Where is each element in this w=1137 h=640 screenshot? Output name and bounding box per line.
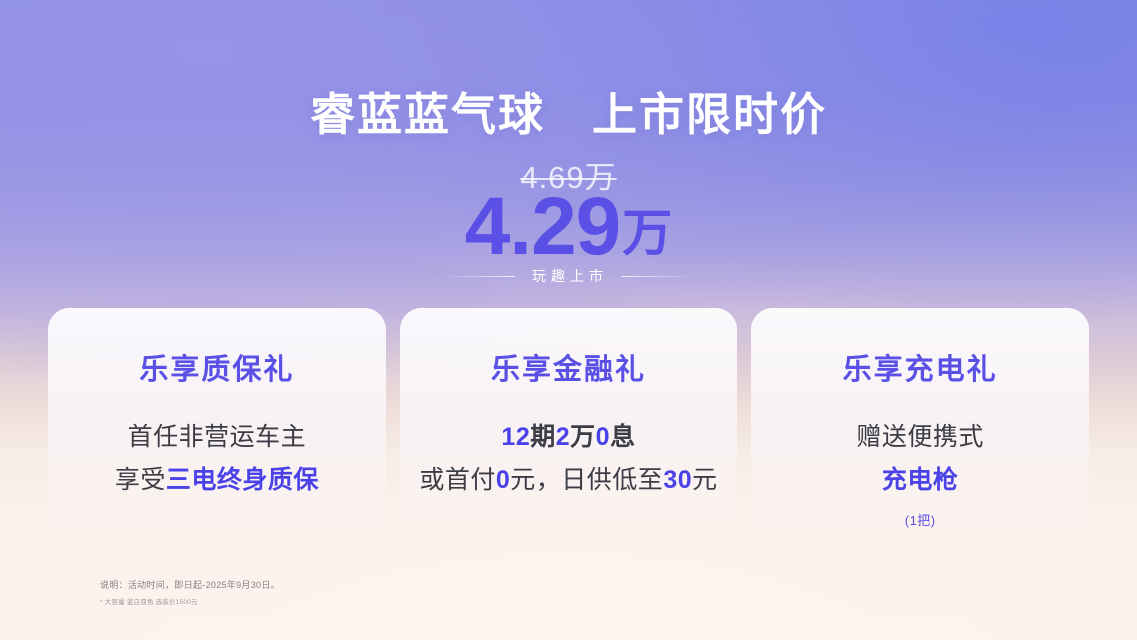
card-line: 12期2万0息 bbox=[400, 416, 738, 459]
card-segment-highlight: 0 bbox=[496, 466, 510, 494]
card-line: 充电枪 bbox=[751, 459, 1089, 502]
card-segment: 万 bbox=[570, 423, 596, 451]
card-segment-highlight: 三电终身质保 bbox=[166, 466, 319, 494]
benefit-card-finance: 乐享金融礼 12期2万0息 或首付0元，日供低至30元 bbox=[400, 308, 738, 608]
footnote-main: 说明：活动时间，即日起-2025年9月30日。 bbox=[100, 578, 280, 592]
card-segment: 息 bbox=[610, 423, 636, 451]
card-segment-highlight: 0 bbox=[596, 423, 610, 451]
card-segment: 首任非营运车主 bbox=[128, 423, 307, 451]
card-title: 乐享金融礼 bbox=[400, 346, 738, 388]
card-note: (1把) bbox=[751, 510, 1089, 529]
card-segment-highlight: 12 bbox=[501, 423, 530, 451]
slogan-row: 玩趣上市 bbox=[0, 266, 1137, 286]
current-price: 4.29万 bbox=[0, 186, 1137, 268]
benefit-card-charging: 乐享充电礼 赠送便携式 充电枪 (1把) bbox=[751, 308, 1089, 608]
current-price-number: 4.29 bbox=[465, 181, 621, 272]
card-title: 乐享充电礼 bbox=[751, 346, 1089, 388]
page-title: 睿蓝蓝气球 上市限时价 bbox=[0, 78, 1137, 143]
footnote-sub: * 大容量 蓝白双色 选装价1500元 bbox=[100, 598, 280, 608]
promo-poster: 睿蓝蓝气球 上市限时价 4.69万 4.29万 玩趣上市 乐享质保礼 首任非营运… bbox=[0, 0, 1137, 640]
card-segment: 期 bbox=[530, 423, 556, 451]
card-segment: 元，日供低至 bbox=[510, 466, 663, 494]
card-title: 乐享质保礼 bbox=[48, 346, 386, 388]
card-segment: 或首付 bbox=[419, 466, 496, 494]
card-segment: 赠送便携式 bbox=[856, 423, 984, 451]
benefit-card-warranty: 乐享质保礼 首任非营运车主 享受三电终身质保 bbox=[48, 308, 386, 608]
footnotes: 说明：活动时间，即日起-2025年9月30日。 * 大容量 蓝白双色 选装价15… bbox=[100, 578, 280, 608]
card-line: 赠送便携式 bbox=[751, 416, 1089, 459]
card-line: 或首付0元，日供低至30元 bbox=[400, 459, 738, 502]
card-line: 享受三电终身质保 bbox=[48, 459, 386, 502]
slogan-text: 玩趣上市 bbox=[529, 266, 608, 286]
divider-line-left bbox=[443, 276, 515, 277]
current-price-unit: 万 bbox=[622, 205, 672, 261]
card-segment-highlight: 2 bbox=[556, 423, 570, 451]
card-segment-highlight: 30 bbox=[663, 466, 692, 494]
card-segment: 元 bbox=[692, 466, 718, 494]
poster-content: 睿蓝蓝气球 上市限时价 4.69万 4.29万 玩趣上市 乐享质保礼 首任非营运… bbox=[0, 0, 1137, 640]
divider-line-right bbox=[622, 276, 694, 277]
card-segment-highlight: 充电枪 bbox=[882, 466, 959, 494]
card-line: 首任非营运车主 bbox=[48, 416, 386, 459]
card-segment: 享受 bbox=[115, 466, 166, 494]
benefit-cards: 乐享质保礼 首任非营运车主 享受三电终身质保 乐享金融礼 12期2万0息 或首付… bbox=[48, 308, 1089, 608]
